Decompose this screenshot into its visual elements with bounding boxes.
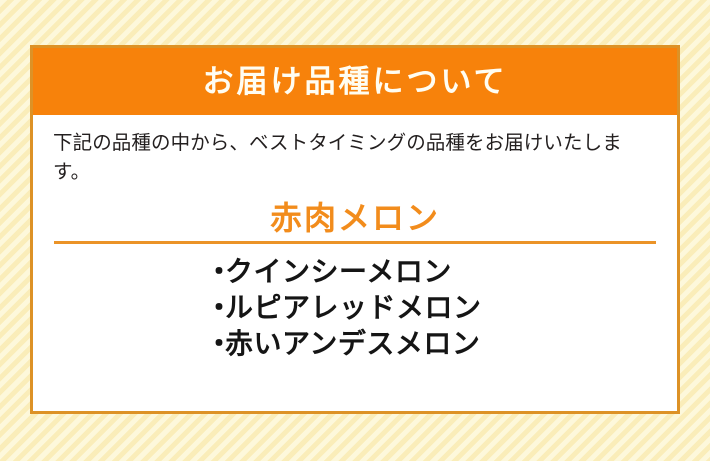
- card-header-band: お届け品種について: [33, 48, 677, 115]
- card-header-title: お届け品種について: [202, 66, 507, 97]
- variety-info-card: お届け品種について 下記の品種の中から、ベストタイミングの品種をお届けいたします…: [30, 45, 680, 414]
- intro-paragraph: 下記の品種の中から、ベストタイミングの品種をお届けいたします。: [53, 129, 657, 188]
- bullet-icon: ・: [205, 290, 225, 326]
- variety-list: ・ クインシーメロン ・ ルピアレッドメロン ・ 赤いアンデスメロン: [53, 254, 657, 361]
- list-item-label: 赤いアンデスメロン: [225, 326, 480, 362]
- card-body: 下記の品種の中から、ベストタイミングの品種をお届けいたします。 赤肉メロン ・ …: [33, 115, 677, 362]
- list-item-label: ルピアレッドメロン: [225, 290, 482, 326]
- list-item: ・ 赤いアンデスメロン: [205, 326, 657, 362]
- variety-divider-rule: [54, 241, 656, 244]
- bullet-icon: ・: [205, 254, 225, 290]
- list-item: ・ ルピアレッドメロン: [205, 290, 657, 326]
- variety-heading: 赤肉メロン: [53, 200, 657, 237]
- list-item: ・ クインシーメロン: [205, 254, 657, 290]
- bullet-icon: ・: [205, 326, 225, 362]
- list-item-label: クインシーメロン: [225, 254, 452, 290]
- page-background: お届け品種について 下記の品種の中から、ベストタイミングの品種をお届けいたします…: [0, 0, 710, 461]
- variety-section: 赤肉メロン ・ クインシーメロン ・ ルピアレッドメロン ・ 赤いアンデスメロン: [53, 200, 657, 362]
